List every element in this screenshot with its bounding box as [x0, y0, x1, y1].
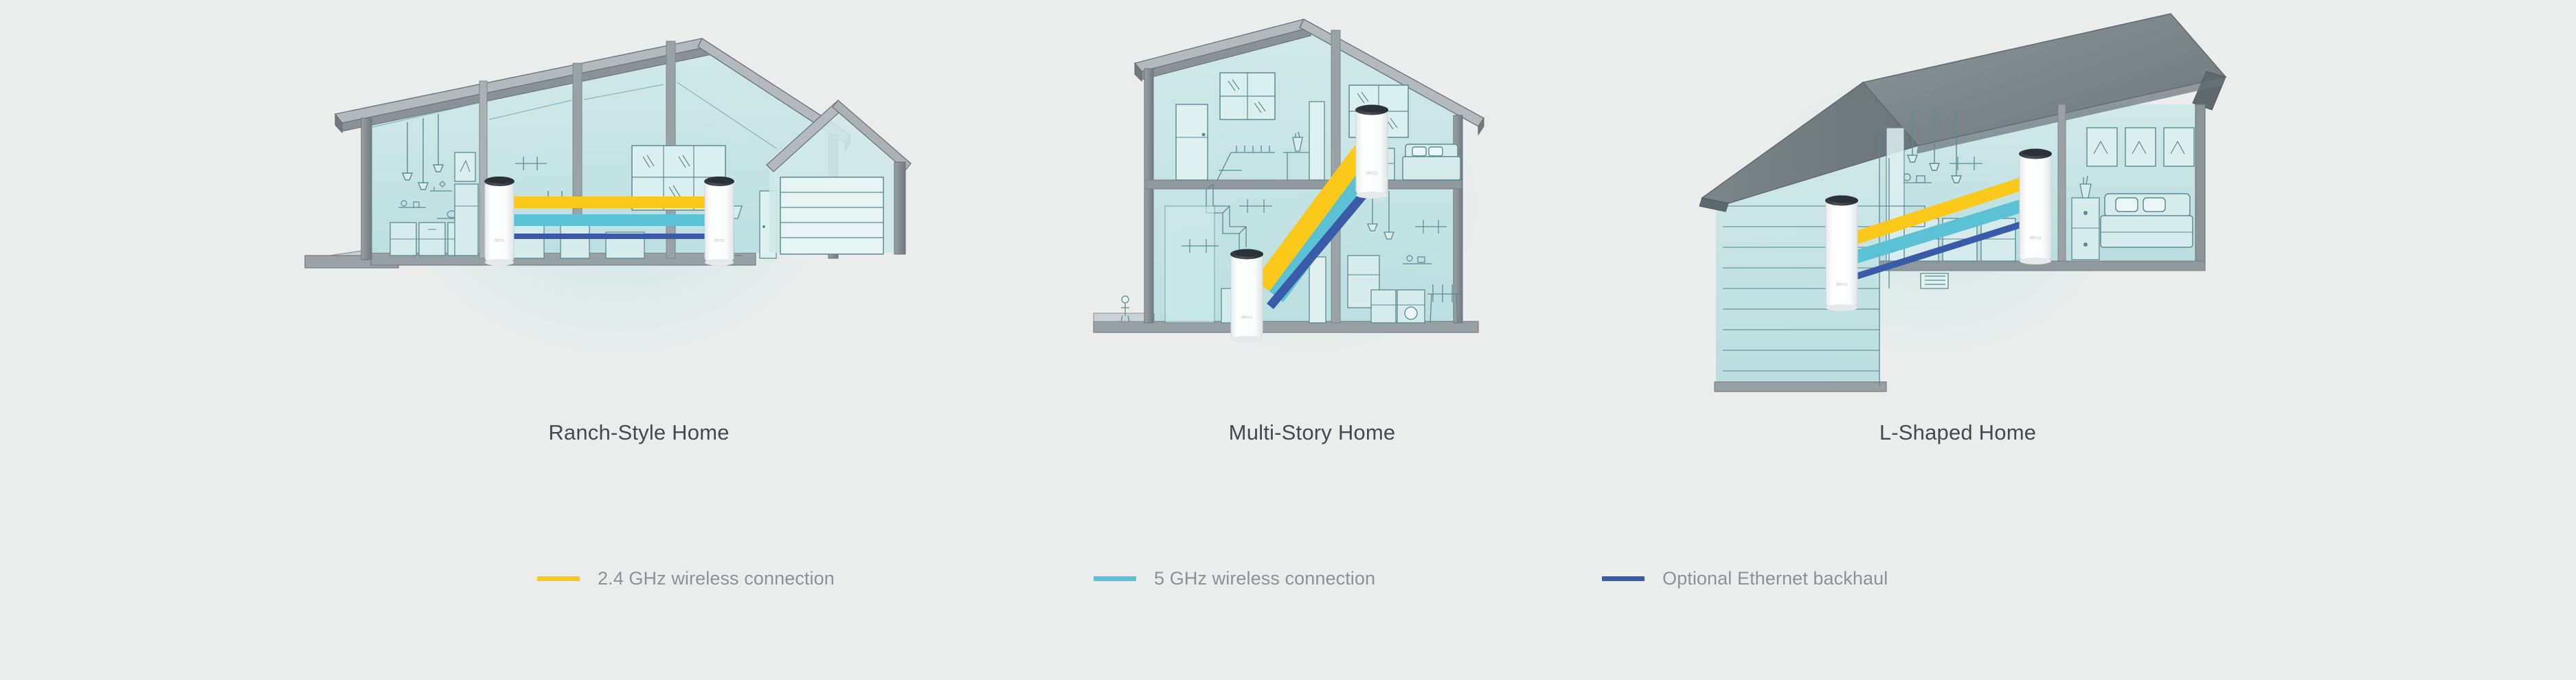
legend-label-5ghz: 5 GHz wireless connection: [1154, 568, 1375, 589]
mesh-unit-lower: deco: [1230, 249, 1263, 343]
wall-divider: [2058, 104, 2066, 269]
mesh-unit-left-wing: deco: [1825, 196, 1858, 312]
wall-left: [1144, 69, 1153, 323]
svg-text:deco: deco: [1836, 281, 1847, 287]
legend-item-2-4ghz: 2.4 GHz wireless connection: [537, 558, 835, 599]
link-ethernet: [507, 234, 713, 239]
legend-label-ethernet: Optional Ethernet backhaul: [1662, 568, 1888, 589]
multistory-house-illustration: deco deco: [1072, 0, 1552, 412]
legend-swatch-ethernet: [1602, 576, 1645, 581]
legend-item-5ghz: 5 GHz wireless connection: [1094, 558, 1375, 599]
mesh-unit-right: deco: [704, 177, 734, 266]
mesh-unit-upper: deco: [1355, 105, 1388, 199]
svg-text:deco: deco: [714, 238, 724, 243]
scene-multi-story-home: deco deco Multi-Story Home: [1072, 0, 1552, 481]
scene-ranch-style-home: deco deco Ranch-Style Home: [295, 0, 982, 481]
svg-text:deco: deco: [1241, 314, 1252, 320]
svg-text:deco: deco: [1366, 170, 1377, 176]
mesh-unit-left: deco: [484, 177, 515, 266]
scene-l-shaped-home: deco deco L-Shaped Home: [1683, 0, 2233, 481]
link-2.4ghz: [507, 196, 713, 208]
ground-slab: [1715, 382, 1886, 392]
legend: 2.4 GHz wireless connection 5 GHz wirele…: [0, 558, 2576, 606]
mesh-unit-right-wing: deco: [2019, 149, 2052, 265]
svg-text:deco: deco: [494, 238, 504, 243]
legend-swatch-5ghz: [1094, 576, 1136, 581]
ranch-house-illustration: deco deco: [295, 0, 982, 412]
link-5ghz: [507, 214, 713, 226]
svg-text:deco: deco: [2030, 234, 2041, 240]
scenes-row: deco deco Ranch-Style Home: [0, 0, 2576, 481]
scene-caption-multi-story: Multi-Story Home: [1072, 420, 1552, 445]
lshaped-house-illustration: deco deco: [1683, 0, 2233, 412]
legend-swatch-2-4ghz: [537, 576, 580, 581]
wall-pictures: [2087, 128, 2194, 166]
refrigerator: [455, 184, 478, 256]
wall-right-outer: [2195, 104, 2205, 269]
scene-caption-l-shaped: L-Shaped Home: [1683, 420, 2233, 445]
legend-label-2-4ghz: 2.4 GHz wireless connection: [598, 568, 835, 589]
column-left: [361, 118, 372, 260]
wall-picture: [455, 152, 475, 181]
floor-divider: [1144, 180, 1462, 189]
legend-item-ethernet: Optional Ethernet backhaul: [1602, 558, 1888, 599]
mesh-coverage-diagram: deco deco Ranch-Style Home: [0, 0, 2576, 680]
scene-caption-ranch: Ranch-Style Home: [295, 420, 982, 445]
